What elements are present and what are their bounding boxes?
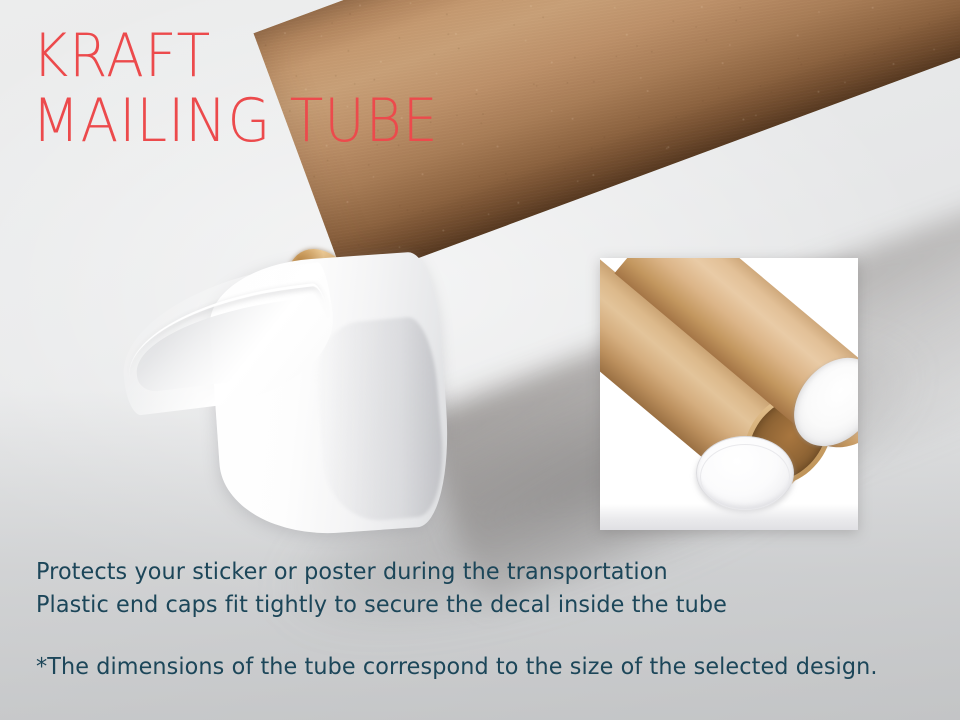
- benefit-line-2: Plastic end caps fit tightly to secure t…: [36, 589, 727, 622]
- poster-canvas: KRAFT MAILING TUBE Protects your sticker…: [0, 0, 960, 720]
- poster-curl: [113, 261, 342, 416]
- poster-sheet: [206, 250, 455, 540]
- inset-photo-content: [600, 258, 858, 530]
- benefit-line-1: Protects your sticker or poster during t…: [36, 556, 727, 589]
- tube-inner-mouth: [261, 240, 442, 516]
- poster-curl-edge: [121, 282, 337, 405]
- headline-line-2: MAILING TUBE: [32, 93, 438, 150]
- rolled-poster-artwork: [120, 250, 450, 540]
- inset-loose-cap-lip: [700, 444, 790, 510]
- benefits-list: Protects your sticker or poster during t…: [36, 556, 748, 621]
- poster-underside: [130, 297, 328, 394]
- headline: KRAFT MAILING TUBE: [32, 28, 474, 150]
- inset-product-photo: [600, 258, 858, 530]
- inset-floor-shade: [600, 504, 858, 530]
- tube-gold-rim: [252, 231, 451, 525]
- headline-line-1: KRAFT: [32, 28, 438, 85]
- footnote: *The dimensions of the tube correspond t…: [36, 654, 878, 680]
- poster-inner-shading: [312, 315, 449, 525]
